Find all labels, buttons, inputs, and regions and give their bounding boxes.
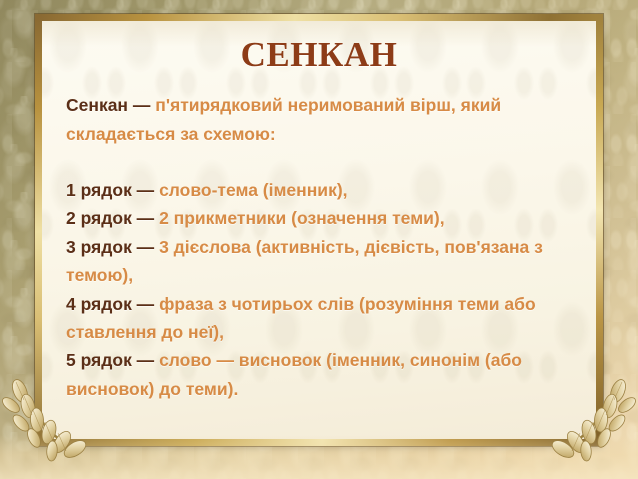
scheme-line-1-lead: 1 рядок — — [66, 180, 154, 200]
scheme-line-4-lead: 4 рядок — — [66, 294, 154, 314]
scheme-line-2-accent: 2 прикметники (означення теми), — [159, 208, 445, 228]
scheme-line-4: 4 рядок — фраза з чотирьох слів (розумін… — [66, 290, 574, 347]
scheme-line-1: 1 рядок — слово-тема (іменник), — [66, 176, 574, 204]
golden-frame: СЕНКАН Сенкан — п'ятирядковий неримовани… — [35, 14, 603, 446]
definition-paragraph: Сенкан — п'ятирядковий неримований вірш,… — [66, 91, 574, 148]
scheme-line-3: 3 рядок — 3 дієслова (активність, дієвіс… — [66, 233, 574, 290]
scheme-line-2-lead: 2 рядок — — [66, 208, 154, 228]
scheme-line-5-lead: 5 рядок — — [66, 350, 154, 370]
scheme-line-5: 5 рядок — слово — висновок (іменник, син… — [66, 346, 574, 403]
page-title: СЕНКАН — [64, 35, 574, 74]
scheme-line-3-lead: 3 рядок — — [66, 237, 154, 257]
presentation-slide: СЕНКАН Сенкан — п'ятирядковий неримовани… — [0, 0, 638, 479]
bottom-glow-strip — [0, 435, 638, 479]
content-panel: СЕНКАН Сенкан — п'ятирядковий неримовани… — [42, 21, 596, 439]
slide-body-text: Сенкан — п'ятирядковий неримований вірш,… — [66, 91, 574, 403]
slide-content: СЕНКАН Сенкан — п'ятирядковий неримовани… — [42, 21, 596, 439]
scheme-line-2: 2 рядок — 2 прикметники (означення теми)… — [66, 204, 574, 232]
definition-lead: Сенкан — — [66, 95, 150, 115]
scheme-line-1-accent: слово-тема (іменник), — [159, 180, 347, 200]
